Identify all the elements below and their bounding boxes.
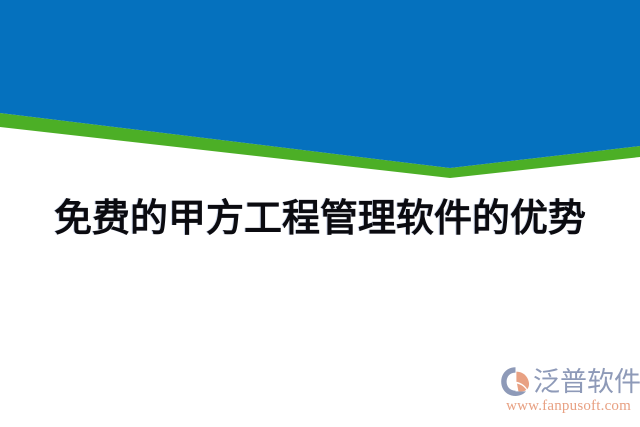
brand-name: 泛普软件 <box>533 367 640 397</box>
fanpu-leaf-logo-icon <box>500 365 534 398</box>
page-title: 免费的甲方工程管理软件的优势 <box>0 192 640 248</box>
banner-shape <box>0 0 640 185</box>
brand-logo: 泛普软件 www.fanpusoft.com <box>500 361 632 419</box>
brand-url: www.fanpusoft.com <box>500 397 632 415</box>
blue-chevron <box>0 0 640 168</box>
fanpu-leaf-logo-glyph <box>500 365 534 398</box>
page-title-text: 免费的甲方工程管理软件的优势 <box>54 200 586 240</box>
banner <box>0 0 640 185</box>
slide-canvas: 免费的甲方工程管理软件的优势 泛普软件 www.fanpusoft.com <box>0 0 640 427</box>
brand-logo-top-row: 泛普软件 <box>500 361 632 397</box>
